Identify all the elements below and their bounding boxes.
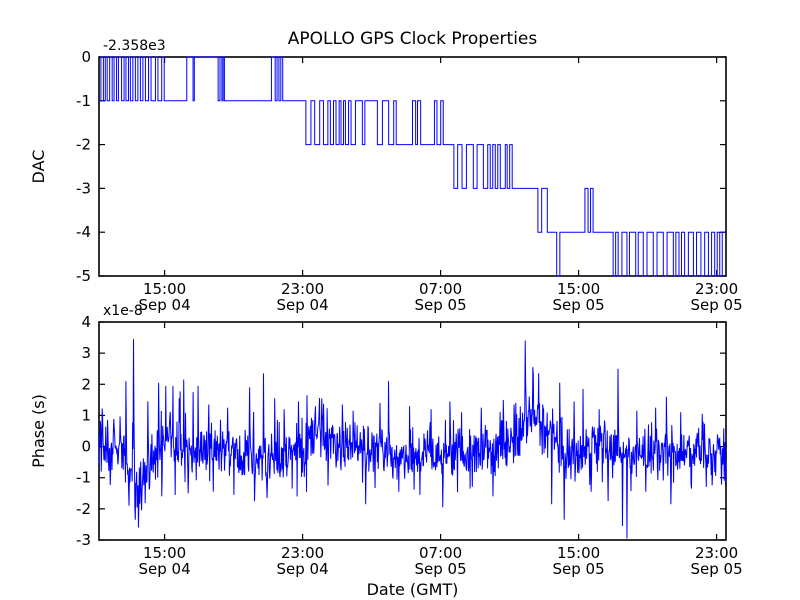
y-tick-label: 3 [81,344,91,362]
y-tick-label: 2 [81,375,91,393]
y-tick-label: -5 [76,267,91,285]
y-axis-title: DAC [29,150,48,184]
x-tick-label-date: Sep 04 [277,296,329,314]
y-offset-label: x1e-8 [103,303,143,319]
y-tick-label: -1 [76,469,91,487]
matplotlib-figure: 0-1-2-3-4-515:00Sep 0423:00Sep 0407:00Se… [0,0,800,600]
y-offset-label: -2.358e3 [103,38,166,54]
y-tick-label: -3 [76,179,91,197]
y-tick-label: 1 [81,406,91,424]
figure-container: 0-1-2-3-4-515:00Sep 0423:00Sep 0407:00Se… [0,0,800,600]
y-tick-label: 4 [81,313,91,331]
x-tick-label-date: Sep 05 [415,560,467,578]
x-tick-label-date: Sep 05 [553,560,605,578]
y-tick-label: 0 [81,48,91,66]
x-tick-label-date: Sep 04 [277,560,329,578]
phase-data-line [99,339,726,538]
x-axis-title: Date (GMT) [367,580,459,599]
y-tick-label: -4 [76,223,91,241]
x-tick-label-date: Sep 05 [691,560,743,578]
y-tick-label: 0 [81,438,91,456]
x-tick-label-date: Sep 04 [139,296,191,314]
y-tick-label: -2 [76,500,91,518]
y-axis-title: Phase (s) [29,394,48,468]
x-tick-label-date: Sep 05 [415,296,467,314]
dac-data-line [99,57,726,276]
plot-title: APOLLO GPS Clock Properties [288,29,538,49]
y-tick-label: -2 [76,136,91,154]
y-tick-label: -3 [76,531,91,549]
x-tick-label-date: Sep 05 [553,296,605,314]
y-tick-label: -1 [76,92,91,110]
x-tick-label-date: Sep 04 [139,560,191,578]
x-tick-label-date: Sep 05 [691,296,743,314]
